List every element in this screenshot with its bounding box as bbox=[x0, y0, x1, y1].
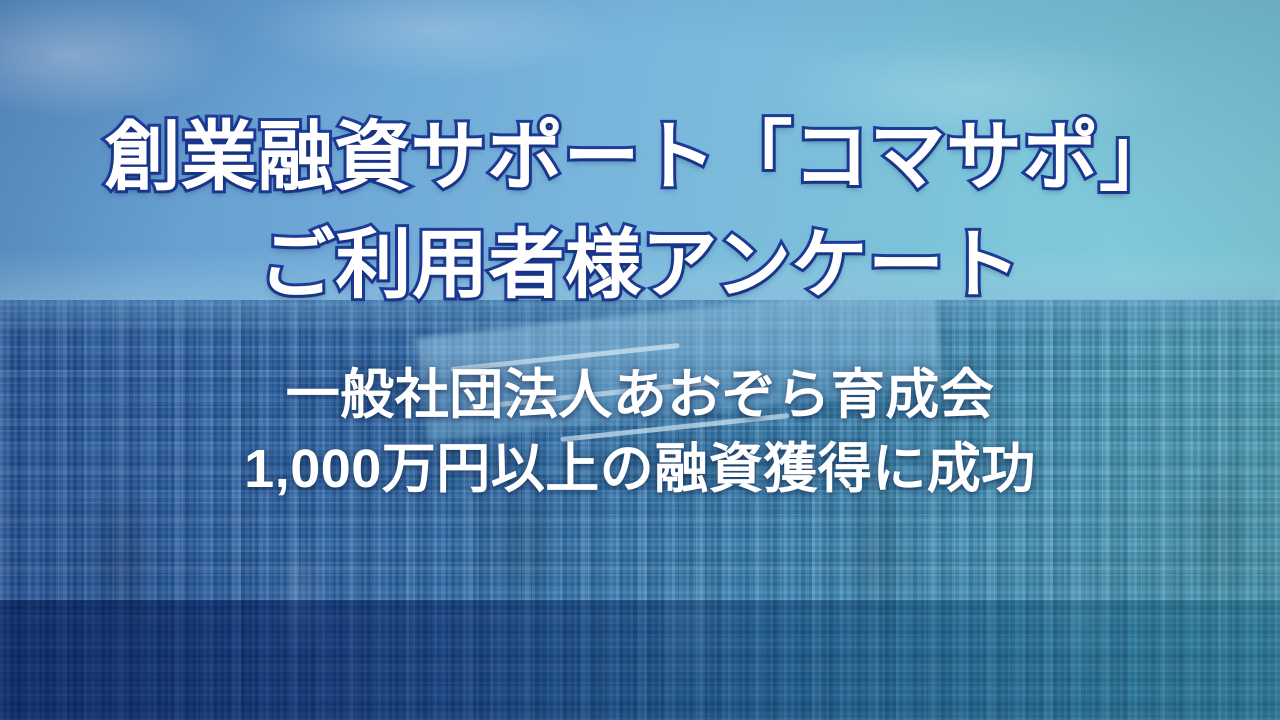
cityscape-background bbox=[0, 300, 1280, 720]
blue-tint-overlay bbox=[0, 600, 1280, 720]
title-slide: 創業融資サポート「コマサポ」 ご利用者様アンケート 一般社団法人あおぞら育成会 … bbox=[0, 0, 1280, 720]
